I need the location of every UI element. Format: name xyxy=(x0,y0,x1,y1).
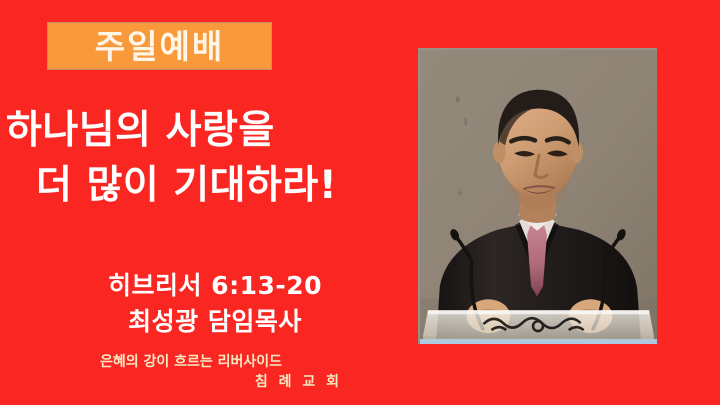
sermon-title-line-2: 더 많이 기대하라! xyxy=(0,159,420,214)
preacher-photo xyxy=(418,48,657,344)
preacher-photo-image xyxy=(420,50,657,344)
sermon-slide: 주일예배 하나님의 사랑을 더 많이 기대하라! 히브리서 6:13-20 최성… xyxy=(0,0,720,405)
church-name: 은혜의 강이 흐르는 리버사이드 침 례 교 회 xyxy=(0,352,390,393)
service-type-label: 주일예배 xyxy=(95,30,224,63)
service-type-banner: 주일예배 xyxy=(47,22,272,70)
church-name-line-1: 은혜의 강이 흐르는 리버사이드 xyxy=(0,352,390,372)
sermon-title-line-1: 하나님의 사랑을 xyxy=(0,104,420,159)
church-name-line-2: 침 례 교 회 xyxy=(0,372,390,392)
sermon-meta: 히브리서 6:13-20 최성광 담임목사 xyxy=(0,268,430,339)
speaker-name: 최성광 담임목사 xyxy=(0,304,430,340)
sermon-title: 하나님의 사랑을 더 많이 기대하라! xyxy=(0,104,420,213)
scripture-reference: 히브리서 6:13-20 xyxy=(0,268,430,304)
